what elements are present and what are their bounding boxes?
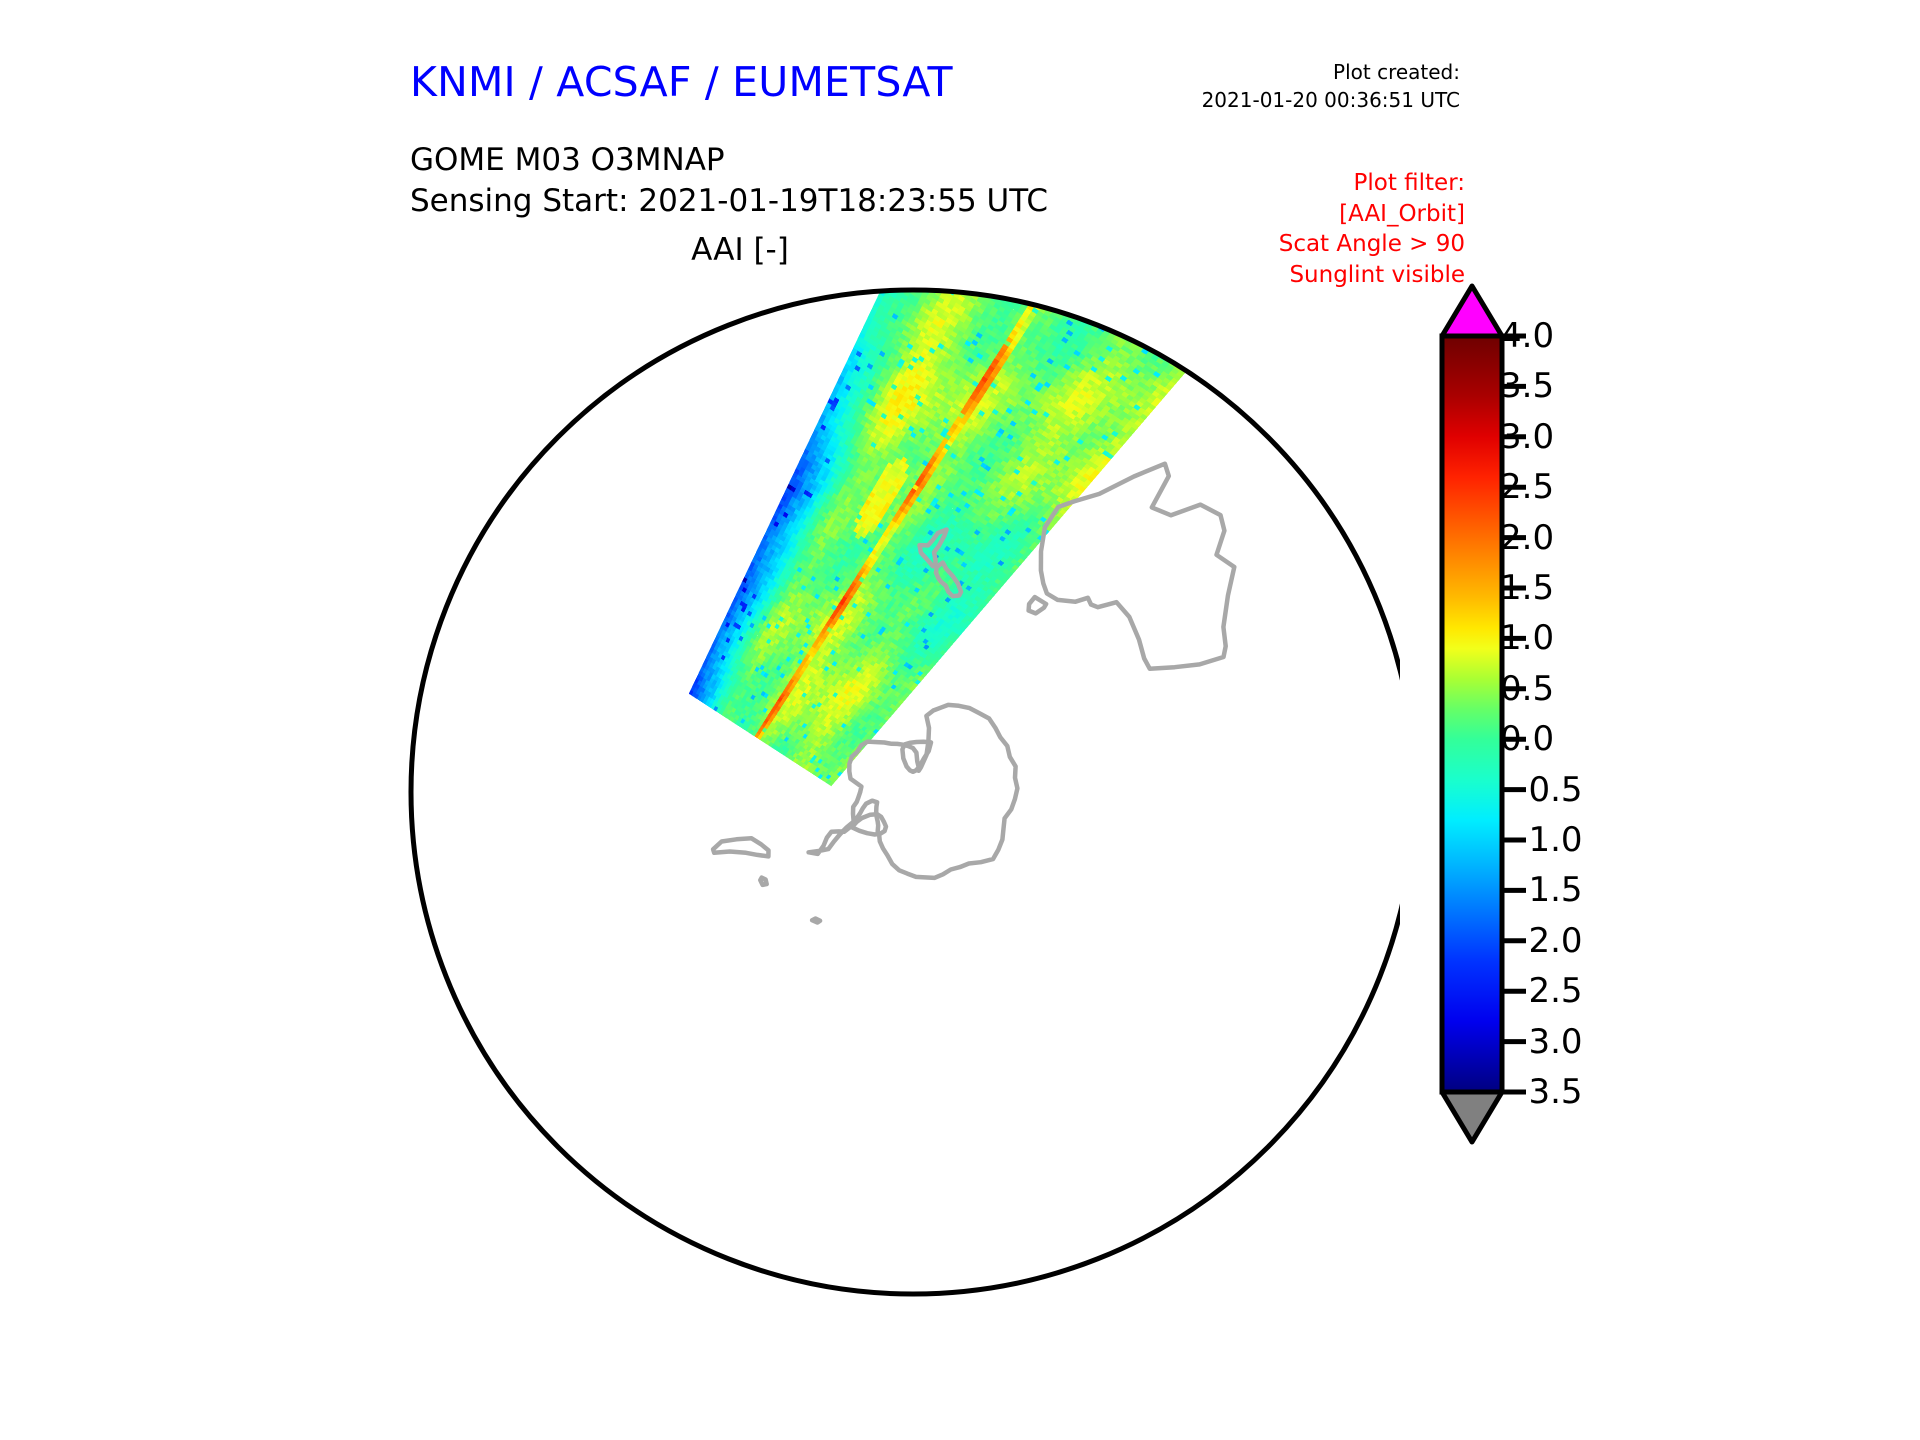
coastline-south-georgia	[812, 919, 820, 923]
polar-stereographic-globe	[0, 230, 1400, 1350]
map-area	[0, 230, 1400, 1350]
filter-line-1: Plot filter:	[1279, 168, 1465, 199]
colorbar-tick-label: 1.0	[1500, 618, 1554, 658]
colorbar-tick-label: −2.0	[1500, 921, 1583, 961]
colorbar-gradient	[1442, 336, 1502, 1092]
colorbar-tick-label: 1.5	[1500, 568, 1554, 608]
plot-created-label: Plot created:	[1202, 58, 1460, 86]
colorbar-tick-label: 2.5	[1500, 467, 1554, 507]
colorbar-tick-label: 3.5	[1500, 366, 1554, 406]
plot-canvas: KNMI / ACSAF / EUMETSAT Plot created: 20…	[0, 0, 1920, 1440]
colorbar-tick-label: 4.0	[1500, 316, 1554, 356]
colorbar-tick-label: 0.5	[1500, 669, 1554, 709]
colorbar-tick-label: 2.0	[1500, 518, 1554, 558]
colorbar-tick-label: −1.0	[1500, 820, 1583, 860]
colorbar-tick-label: −3.0	[1500, 1022, 1583, 1062]
instrument-line: GOME M03 O3MNAP	[410, 140, 1048, 181]
colorbar-tick-label: 3.0	[1500, 417, 1554, 457]
colorbar-tick-label: −0.5	[1500, 770, 1583, 810]
sensing-start-line: Sensing Start: 2021-01-19T18:23:55 UTC	[410, 181, 1048, 222]
colorbar-tick-label: −1.5	[1500, 870, 1583, 910]
colorbar-tick-label: −3.5	[1500, 1072, 1583, 1112]
colorbar: 4.03.53.02.52.01.51.00.50.0−0.5−1.0−1.5−…	[1430, 270, 1690, 1330]
colorbar-tick-label: 0.0	[1500, 719, 1554, 759]
plot-created-value: 2021-01-20 00:36:51 UTC	[1202, 86, 1460, 114]
colorbar-over-arrow	[1442, 286, 1502, 336]
dataset-block: GOME M03 O3MNAP Sensing Start: 2021-01-1…	[410, 140, 1048, 222]
agency-title: KNMI / ACSAF / EUMETSAT	[410, 58, 953, 106]
colorbar-under-arrow	[1442, 1092, 1502, 1142]
plot-created-block: Plot created: 2021-01-20 00:36:51 UTC	[1202, 58, 1460, 115]
filter-line-2: [AAI_Orbit]	[1279, 199, 1465, 230]
colorbar-tick-label: −2.5	[1500, 971, 1583, 1011]
